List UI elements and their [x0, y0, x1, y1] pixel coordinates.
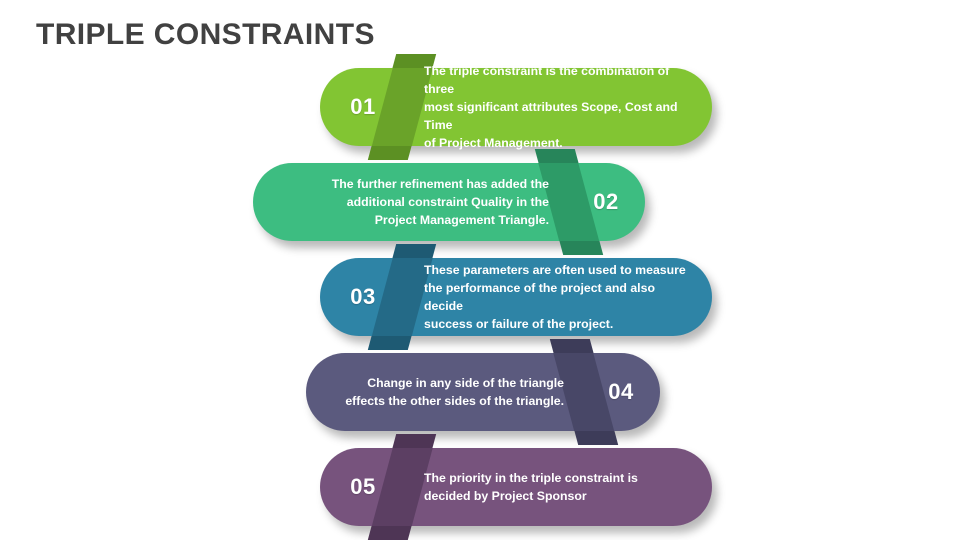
ribbon-fold-bottom-1 — [368, 146, 412, 160]
ribbon-fold-top-3 — [392, 244, 436, 258]
ribbon-fold-bottom-2 — [559, 241, 603, 255]
step-number-2: 02 — [577, 163, 635, 241]
ribbon-fold-bottom-5 — [368, 526, 412, 540]
step-description-5: The priority in the triple constraint is… — [424, 448, 696, 526]
step-number-4: 04 — [592, 353, 650, 431]
list-item[interactable]: 03 These parameters are often used to me… — [320, 258, 712, 336]
list-item[interactable]: 04 Change in any side of the triangle ef… — [306, 353, 660, 431]
step-number-1: 01 — [334, 68, 392, 146]
step-description-line: decided by Project Sponsor — [424, 487, 696, 505]
step-description-line: The priority in the triple constraint is — [424, 469, 696, 487]
step-description-line: of Project Management. — [424, 134, 696, 152]
step-description-line: Change in any side of the triangle — [367, 374, 564, 392]
step-description-line: most significant attributes Scope, Cost … — [424, 98, 696, 134]
step-description-3: These parameters are often used to measu… — [424, 258, 696, 336]
list-item[interactable]: 01 The triple constraint is the combinat… — [320, 68, 712, 146]
ribbon-fold-top-5 — [392, 434, 436, 448]
step-description-line: These parameters are often used to measu… — [424, 261, 696, 279]
step-description-line: success or failure of the project. — [424, 315, 696, 333]
step-description-4: Change in any side of the triangle effec… — [324, 353, 564, 431]
step-description-line: Project Management Triangle. — [375, 211, 549, 229]
list-item[interactable]: 02 The further refinement has added the … — [253, 163, 645, 241]
step-description-1: The triple constraint is the combination… — [424, 68, 696, 146]
step-description-line: effects the other sides of the triangle. — [345, 392, 564, 410]
step-description-line: additional constraint Quality in the — [347, 193, 549, 211]
step-number-3: 03 — [334, 258, 392, 336]
page-title: TRIPLE CONSTRAINTS — [36, 18, 375, 52]
step-description-line: the performance of the project and also … — [424, 279, 696, 315]
ribbon-fold-bottom-4 — [574, 431, 618, 445]
step-description-line: The triple constraint is the combination… — [424, 62, 696, 98]
step-description-2: The further refinement has added the add… — [271, 163, 549, 241]
slide-canvas: TRIPLE CONSTRAINTS 01 The triple constra… — [0, 0, 960, 540]
step-number-5: 05 — [334, 448, 392, 526]
ribbon-fold-top-4 — [550, 339, 594, 353]
step-description-line: The further refinement has added the — [332, 175, 549, 193]
list-item[interactable]: 05 The priority in the triple constraint… — [320, 448, 712, 526]
ribbon-fold-bottom-3 — [368, 336, 412, 350]
